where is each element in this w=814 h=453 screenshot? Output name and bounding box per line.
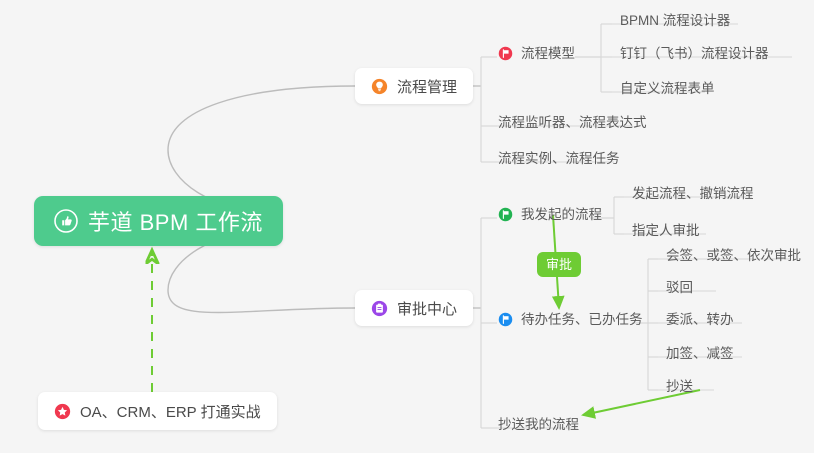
node-todo-done-tasks[interactable]: 待办任务、已办任务 xyxy=(490,310,651,331)
branch-label: 流程管理 xyxy=(397,76,457,97)
node-add-remove-sign[interactable]: 加签、减签 xyxy=(658,345,742,365)
node-label: 流程实例、流程任务 xyxy=(498,152,620,166)
branch-approval-center[interactable]: 审批中心 xyxy=(355,290,473,326)
node-label: 发起流程、撤销流程 xyxy=(632,187,754,201)
node-process-listener[interactable]: 流程监听器、流程表达式 xyxy=(490,114,655,134)
note-integration[interactable]: OA、CRM、ERP 打通实战 xyxy=(38,392,277,430)
node-label: 会签、或签、依次审批 xyxy=(666,249,801,263)
star-icon xyxy=(54,403,71,420)
mindmap-canvas[interactable]: 芋道 BPM 工作流 流程管理 流程模型 BPMN 流程设计器 钉钉（飞书）流程 xyxy=(0,0,814,453)
annotation-approval[interactable]: 审批 xyxy=(537,252,581,277)
lightbulb-icon xyxy=(371,78,388,95)
node-label: 委派、转办 xyxy=(666,313,734,327)
node-delegate-transfer[interactable]: 委派、转办 xyxy=(658,311,742,331)
node-label: 流程模型 xyxy=(521,47,575,61)
node-carbon-copy[interactable]: 抄送 xyxy=(658,378,701,398)
flag-icon xyxy=(498,312,513,327)
node-process-model[interactable]: 流程模型 xyxy=(490,44,583,65)
flag-icon xyxy=(498,46,513,61)
root-label: 芋道 BPM 工作流 xyxy=(88,205,263,237)
node-label: 自定义流程表单 xyxy=(620,82,715,96)
node-start-cancel-process[interactable]: 发起流程、撤销流程 xyxy=(624,185,762,205)
node-assignee-approval[interactable]: 指定人审批 xyxy=(624,222,708,242)
flag-icon xyxy=(498,207,513,222)
node-cc-to-me-process[interactable]: 抄送我的流程 xyxy=(490,416,587,436)
node-dingtalk-feishu-designer[interactable]: 钉钉（飞书）流程设计器 xyxy=(612,45,777,65)
thumbs-up-icon xyxy=(54,209,78,233)
node-label: 加签、减签 xyxy=(666,347,734,361)
node-custom-process-form[interactable]: 自定义流程表单 xyxy=(612,80,723,100)
node-label: 我发起的流程 xyxy=(521,208,602,222)
node-label: 抄送我的流程 xyxy=(498,418,579,432)
node-my-initiated-process[interactable]: 我发起的流程 xyxy=(490,205,610,226)
clipboard-icon xyxy=(371,300,388,317)
note-label: OA、CRM、ERP 打通实战 xyxy=(80,401,261,422)
node-label: 钉钉（飞书）流程设计器 xyxy=(620,47,769,61)
node-label: 驳回 xyxy=(666,281,693,295)
node-reject[interactable]: 驳回 xyxy=(658,279,701,299)
node-bpmn-designer[interactable]: BPMN 流程设计器 xyxy=(612,12,738,32)
node-label: 抄送 xyxy=(666,380,693,394)
branch-label: 审批中心 xyxy=(397,298,457,319)
node-label: 流程监听器、流程表达式 xyxy=(498,116,647,130)
node-label: 指定人审批 xyxy=(632,224,700,238)
node-process-instance[interactable]: 流程实例、流程任务 xyxy=(490,150,628,170)
annotation-label: 审批 xyxy=(546,257,572,272)
root-node[interactable]: 芋道 BPM 工作流 xyxy=(34,196,283,246)
link-root-to-process-management xyxy=(168,86,355,214)
node-label: 待办任务、已办任务 xyxy=(521,313,643,327)
branch-process-management[interactable]: 流程管理 xyxy=(355,68,473,104)
node-countersign[interactable]: 会签、或签、依次审批 xyxy=(658,247,809,267)
node-label: BPMN 流程设计器 xyxy=(620,14,730,28)
